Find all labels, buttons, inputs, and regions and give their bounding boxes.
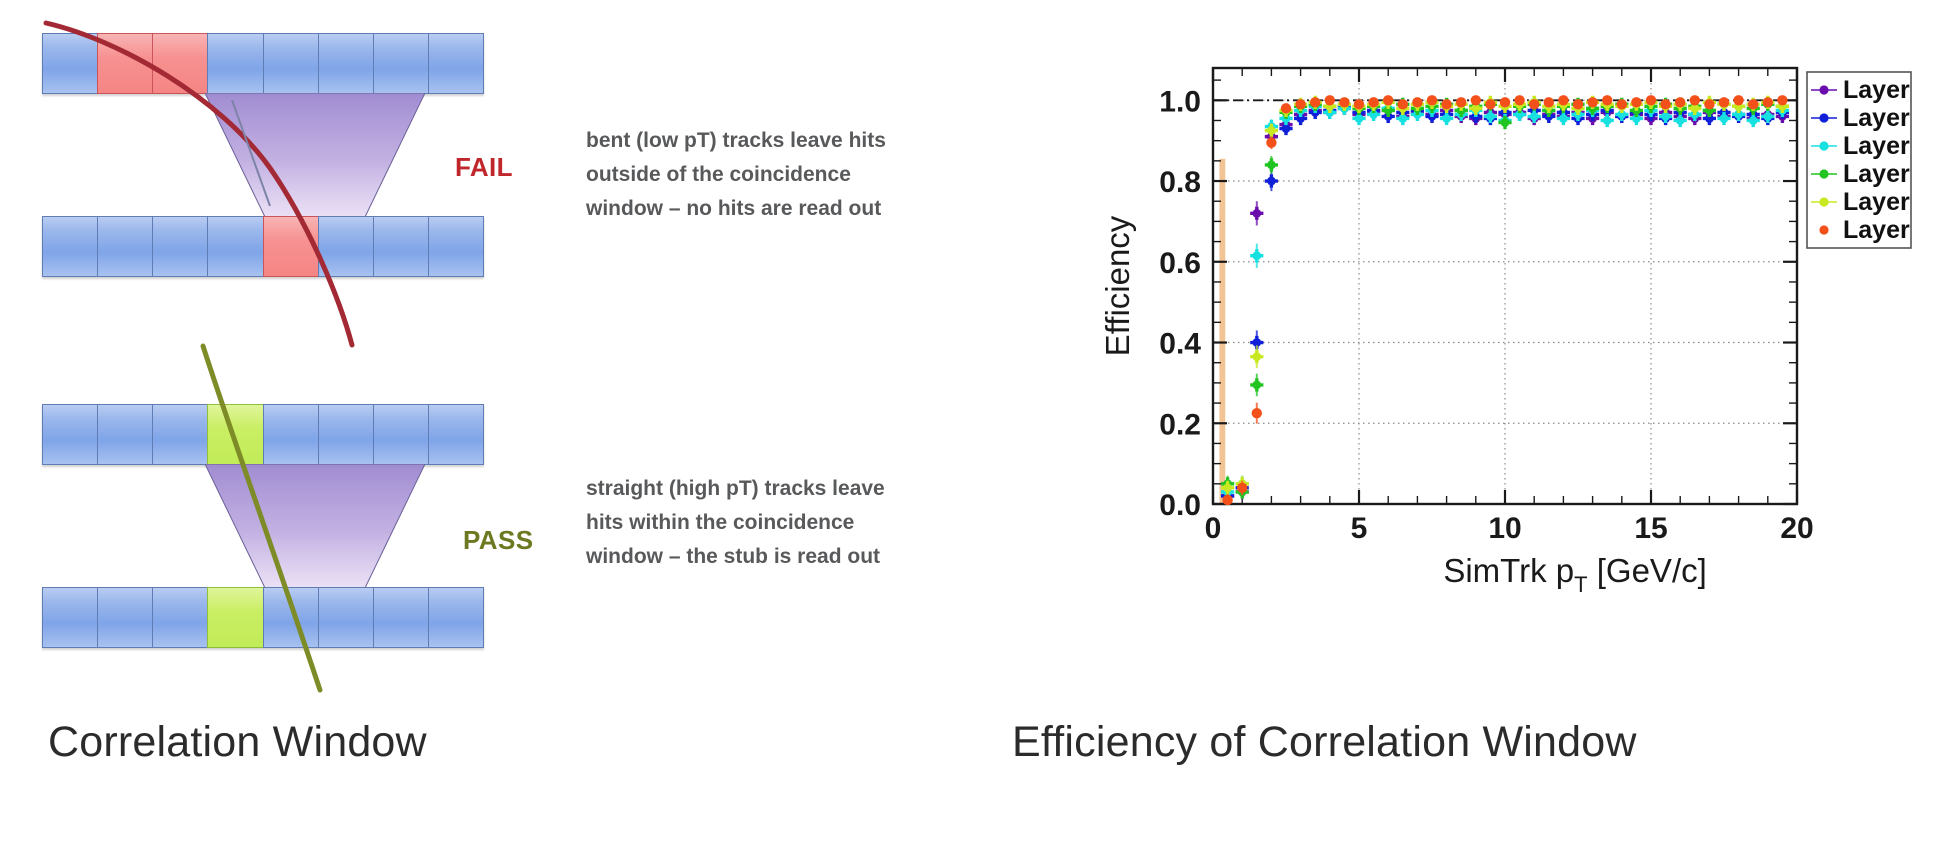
data-point <box>1485 99 1495 109</box>
sensor-strip-hit <box>207 587 262 648</box>
sensor-strip <box>152 587 207 648</box>
data-point <box>1602 95 1612 105</box>
data-point <box>1282 124 1291 133</box>
left-caption: Correlation Window <box>48 718 427 767</box>
pass-explanation-text: straight (high pT) tracks leave hits wit… <box>586 472 916 574</box>
data-point <box>1223 483 1232 492</box>
sensor-strip <box>428 33 484 94</box>
legend-marker <box>1819 225 1828 234</box>
sensor-strip <box>42 404 97 465</box>
data-point <box>1383 95 1393 105</box>
sensor-strip <box>97 587 152 648</box>
right-caption: Efficiency of Correlation Window <box>1012 718 1637 767</box>
pass-coincidence-window-cone <box>205 464 425 588</box>
data-point <box>1529 99 1539 109</box>
data-point <box>1690 95 1700 105</box>
data-point <box>1558 95 1568 105</box>
sensor-strip <box>373 33 428 94</box>
legend-label: Layer 3 <box>1843 132 1915 160</box>
legend-marker <box>1819 141 1828 150</box>
data-point <box>1252 408 1262 418</box>
sensor-strip <box>97 404 152 465</box>
x-tick-label: 20 <box>1780 512 1813 545</box>
data-point <box>1456 97 1466 107</box>
series-layer-5 <box>1221 96 1789 495</box>
data-point <box>1676 116 1685 125</box>
data-point <box>1442 114 1451 123</box>
sensor-strip <box>42 216 97 277</box>
data-point <box>1763 97 1773 107</box>
sensor-strip <box>373 216 428 277</box>
data-point <box>1267 177 1276 186</box>
efficiency-chart: 051015200.00.20.40.60.81.0EfficiencySimT… <box>1095 40 1915 600</box>
data-point <box>1355 114 1364 123</box>
y-tick-label: 1.0 <box>1159 85 1201 118</box>
sensor-strip <box>428 216 484 277</box>
sensor-strip <box>42 33 97 94</box>
x-tick-label: 0 <box>1205 512 1222 545</box>
y-tick-label: 0.4 <box>1159 328 1201 361</box>
legend-label: Layer 6 <box>1843 216 1915 244</box>
data-point <box>1704 99 1714 109</box>
chart-legend: Layer 1Layer 2Layer 3Layer 4Layer 5Layer… <box>1807 72 1915 248</box>
pass-upper-sensor-bar <box>42 404 484 465</box>
x-tick-label: 10 <box>1488 512 1521 545</box>
data-point <box>1310 97 1320 107</box>
sensor-strip-hit <box>152 33 207 94</box>
data-point <box>1252 352 1261 361</box>
sensor-strip-hit <box>207 404 262 465</box>
sensor-strip <box>428 587 484 648</box>
data-point <box>1398 99 1408 109</box>
data-point <box>1749 116 1758 125</box>
data-point <box>1339 97 1349 107</box>
data-point <box>1646 95 1656 105</box>
data-point <box>1763 112 1772 121</box>
y-axis-title: Efficiency <box>1099 215 1136 356</box>
data-point <box>1412 97 1422 107</box>
sensor-strip <box>318 216 373 277</box>
sensor-strip <box>318 404 373 465</box>
efficiency-plot-panel: 051015200.00.20.40.60.81.0EfficiencySimT… <box>1000 0 1934 842</box>
data-point <box>1252 209 1261 218</box>
data-point <box>1325 95 1335 105</box>
fail-verdict-label: FAIL <box>455 152 513 183</box>
fail-coincidence-window-cone <box>205 93 425 217</box>
data-point <box>1675 97 1685 107</box>
data-point <box>1295 99 1305 109</box>
data-point <box>1281 103 1291 113</box>
series-layer-2 <box>1221 100 1789 503</box>
sensor-strip <box>263 587 318 648</box>
data-point <box>1237 483 1247 493</box>
sensor-strip <box>42 587 97 648</box>
pass-verdict-label: PASS <box>463 525 533 556</box>
x-tick-label: 15 <box>1634 512 1667 545</box>
data-point <box>1748 99 1758 109</box>
data-point <box>1222 495 1232 505</box>
data-point <box>1267 160 1276 169</box>
sensor-strip <box>207 216 262 277</box>
y-tick-label: 0.6 <box>1159 247 1201 280</box>
data-point <box>1368 97 1378 107</box>
y-tick-label: 0.8 <box>1159 166 1201 199</box>
data-point <box>1441 99 1451 109</box>
legend-label: Layer 5 <box>1843 188 1915 216</box>
sensor-strip <box>152 216 207 277</box>
legend-marker <box>1819 85 1828 94</box>
sensor-strip <box>373 404 428 465</box>
data-point <box>1719 97 1729 107</box>
data-point <box>1617 99 1627 109</box>
data-point <box>1501 118 1510 127</box>
data-point <box>1427 95 1437 105</box>
pass-lower-sensor-bar <box>42 587 484 648</box>
data-point <box>1398 114 1407 123</box>
sensor-strip <box>318 33 373 94</box>
y-tick-label: 0.0 <box>1159 489 1201 522</box>
legend-marker <box>1819 197 1828 206</box>
data-point <box>1631 97 1641 107</box>
sensor-strip <box>373 587 428 648</box>
sensor-strip <box>318 587 373 648</box>
data-point <box>1252 251 1261 260</box>
data-point <box>1486 112 1495 121</box>
data-point <box>1514 95 1524 105</box>
legend-label: Layer 4 <box>1843 160 1915 188</box>
sensor-strip <box>263 33 318 94</box>
data-point <box>1471 95 1481 105</box>
sensor-strip <box>97 216 152 277</box>
series-layer-1 <box>1221 102 1789 503</box>
data-point <box>1720 114 1729 123</box>
y-tick-label: 0.2 <box>1159 408 1201 441</box>
data-point <box>1660 99 1670 109</box>
fail-lower-sensor-bar <box>42 216 484 277</box>
sensor-strip <box>263 404 318 465</box>
sensor-strip <box>207 33 262 94</box>
data-point <box>1777 95 1787 105</box>
data-point <box>1354 99 1364 109</box>
fail-upper-sensor-bar <box>42 33 484 94</box>
legend-marker <box>1819 113 1828 122</box>
legend-label: Layer 2 <box>1843 104 1915 132</box>
fail-explanation-text: bent (low pT) tracks leave hits outside … <box>586 124 916 226</box>
correlation-window-diagram: FAIL PASS bent (low pT) tracks leave hit… <box>0 0 1000 842</box>
x-axis-title: SimTrk pT [GeV/c] <box>1443 552 1706 597</box>
sensor-strip <box>428 404 484 465</box>
data-point <box>1544 97 1554 107</box>
shaded-band <box>1219 159 1225 504</box>
data-point <box>1661 112 1670 121</box>
data-point <box>1573 99 1583 109</box>
sensor-strip <box>152 404 207 465</box>
data-point <box>1559 114 1568 123</box>
data-point <box>1603 116 1612 125</box>
sensor-strip-hit <box>97 33 152 94</box>
sensor-strip-hit <box>263 216 318 277</box>
data-point <box>1252 381 1261 390</box>
x-tick-label: 5 <box>1351 512 1368 545</box>
data-point <box>1267 126 1276 135</box>
efficiency-chart-svg: 051015200.00.20.40.60.81.0EfficiencySimT… <box>1095 40 1915 600</box>
data-point <box>1500 97 1510 107</box>
data-point <box>1733 95 1743 105</box>
legend-marker <box>1819 169 1828 178</box>
data-point <box>1530 112 1539 121</box>
legend-label: Layer 1 <box>1843 76 1915 104</box>
data-point <box>1587 97 1597 107</box>
data-point <box>1266 137 1276 147</box>
